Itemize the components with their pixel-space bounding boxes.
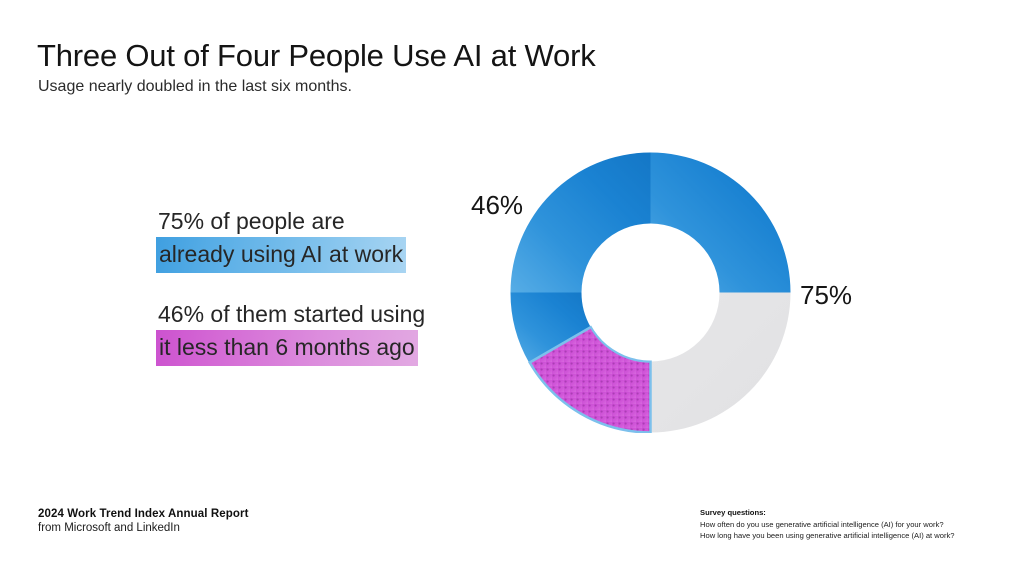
callout-statement-recency: 46% of them started using it less than 6…: [157, 299, 487, 366]
footer-source: 2024 Work Trend Index Annual Report from…: [38, 508, 249, 534]
donut-label-46: 46%: [471, 190, 523, 221]
callout-plain-text: 46% of them started using: [157, 299, 487, 330]
survey-questions-heading: Survey questions:: [700, 508, 955, 517]
footer-survey-questions: Survey questions: How often do you use g…: [700, 508, 955, 541]
donut-chart-svg: [510, 152, 791, 433]
donut-chart: [510, 152, 791, 433]
page-title: Three Out of Four People Use AI at Work: [37, 38, 596, 74]
donut-label-75: 75%: [800, 280, 852, 311]
callout-plain-text: 75% of people are: [157, 206, 487, 237]
survey-question-1: How often do you use generative artifici…: [700, 519, 955, 530]
slide-canvas: Three Out of Four People Use AI at Work …: [0, 0, 1024, 576]
footer-report-title: 2024 Work Trend Index Annual Report: [38, 508, 249, 520]
footer-report-authors: from Microsoft and LinkedIn: [38, 522, 249, 534]
page-subtitle: Usage nearly doubled in the last six mon…: [38, 78, 352, 96]
donut-center-hole: [583, 225, 719, 361]
callout-statement-ai-usage: 75% of people are already using AI at wo…: [157, 206, 487, 273]
callout-highlight-text: already using AI at work: [156, 237, 406, 273]
callout-highlight-text: it less than 6 months ago: [156, 330, 418, 366]
survey-question-2: How long have you been using generative …: [700, 530, 955, 541]
callout-group: 75% of people are already using AI at wo…: [157, 206, 487, 392]
